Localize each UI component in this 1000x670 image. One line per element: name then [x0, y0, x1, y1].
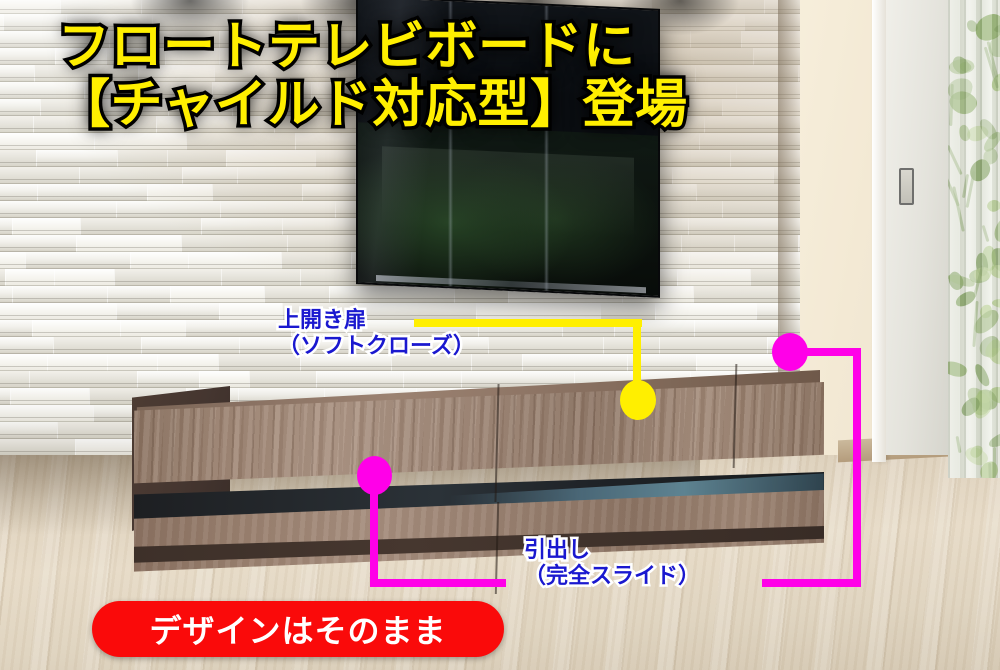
- leader-line-drawer-right-bottom: [762, 579, 861, 587]
- marker-dot-upper-door: [620, 380, 656, 420]
- design-banner-label: デザインはそのまま: [149, 606, 446, 652]
- label-drawer: 引出し （完全スライド）: [524, 538, 700, 591]
- leader-line-drawer-left-vertical: [370, 478, 378, 586]
- leader-line-drawer-right-top: [795, 348, 861, 356]
- leader-line-drawer-left-horizontal: [370, 579, 506, 587]
- page-title: フロートテレビボードに 【チャイルド対応型】登場: [58, 18, 858, 134]
- label-drawer-line-2: （完全スライド）: [524, 564, 700, 590]
- annotation-overlay: フロートテレビボードに 【チャイルド対応型】登場 上開き扉 （ソフトクローズ） …: [0, 0, 1000, 670]
- label-upper-door: 上開き扉 （ソフトクローズ）: [278, 308, 475, 361]
- title-line-1: フロートテレビボードに: [58, 18, 858, 76]
- label-upper-door-line-1: 上開き扉: [278, 308, 475, 334]
- leader-line-drawer-right-vertical: [853, 348, 861, 587]
- title-line-2: 【チャイルド対応型】登場: [58, 76, 858, 134]
- label-upper-door-line-2: （ソフトクローズ）: [278, 334, 475, 360]
- screenshot-root: フロートテレビボードに 【チャイルド対応型】登場 上開き扉 （ソフトクローズ） …: [0, 0, 1000, 670]
- design-banner: デザインはそのまま: [92, 601, 504, 657]
- label-drawer-line-1: 引出し: [524, 538, 700, 564]
